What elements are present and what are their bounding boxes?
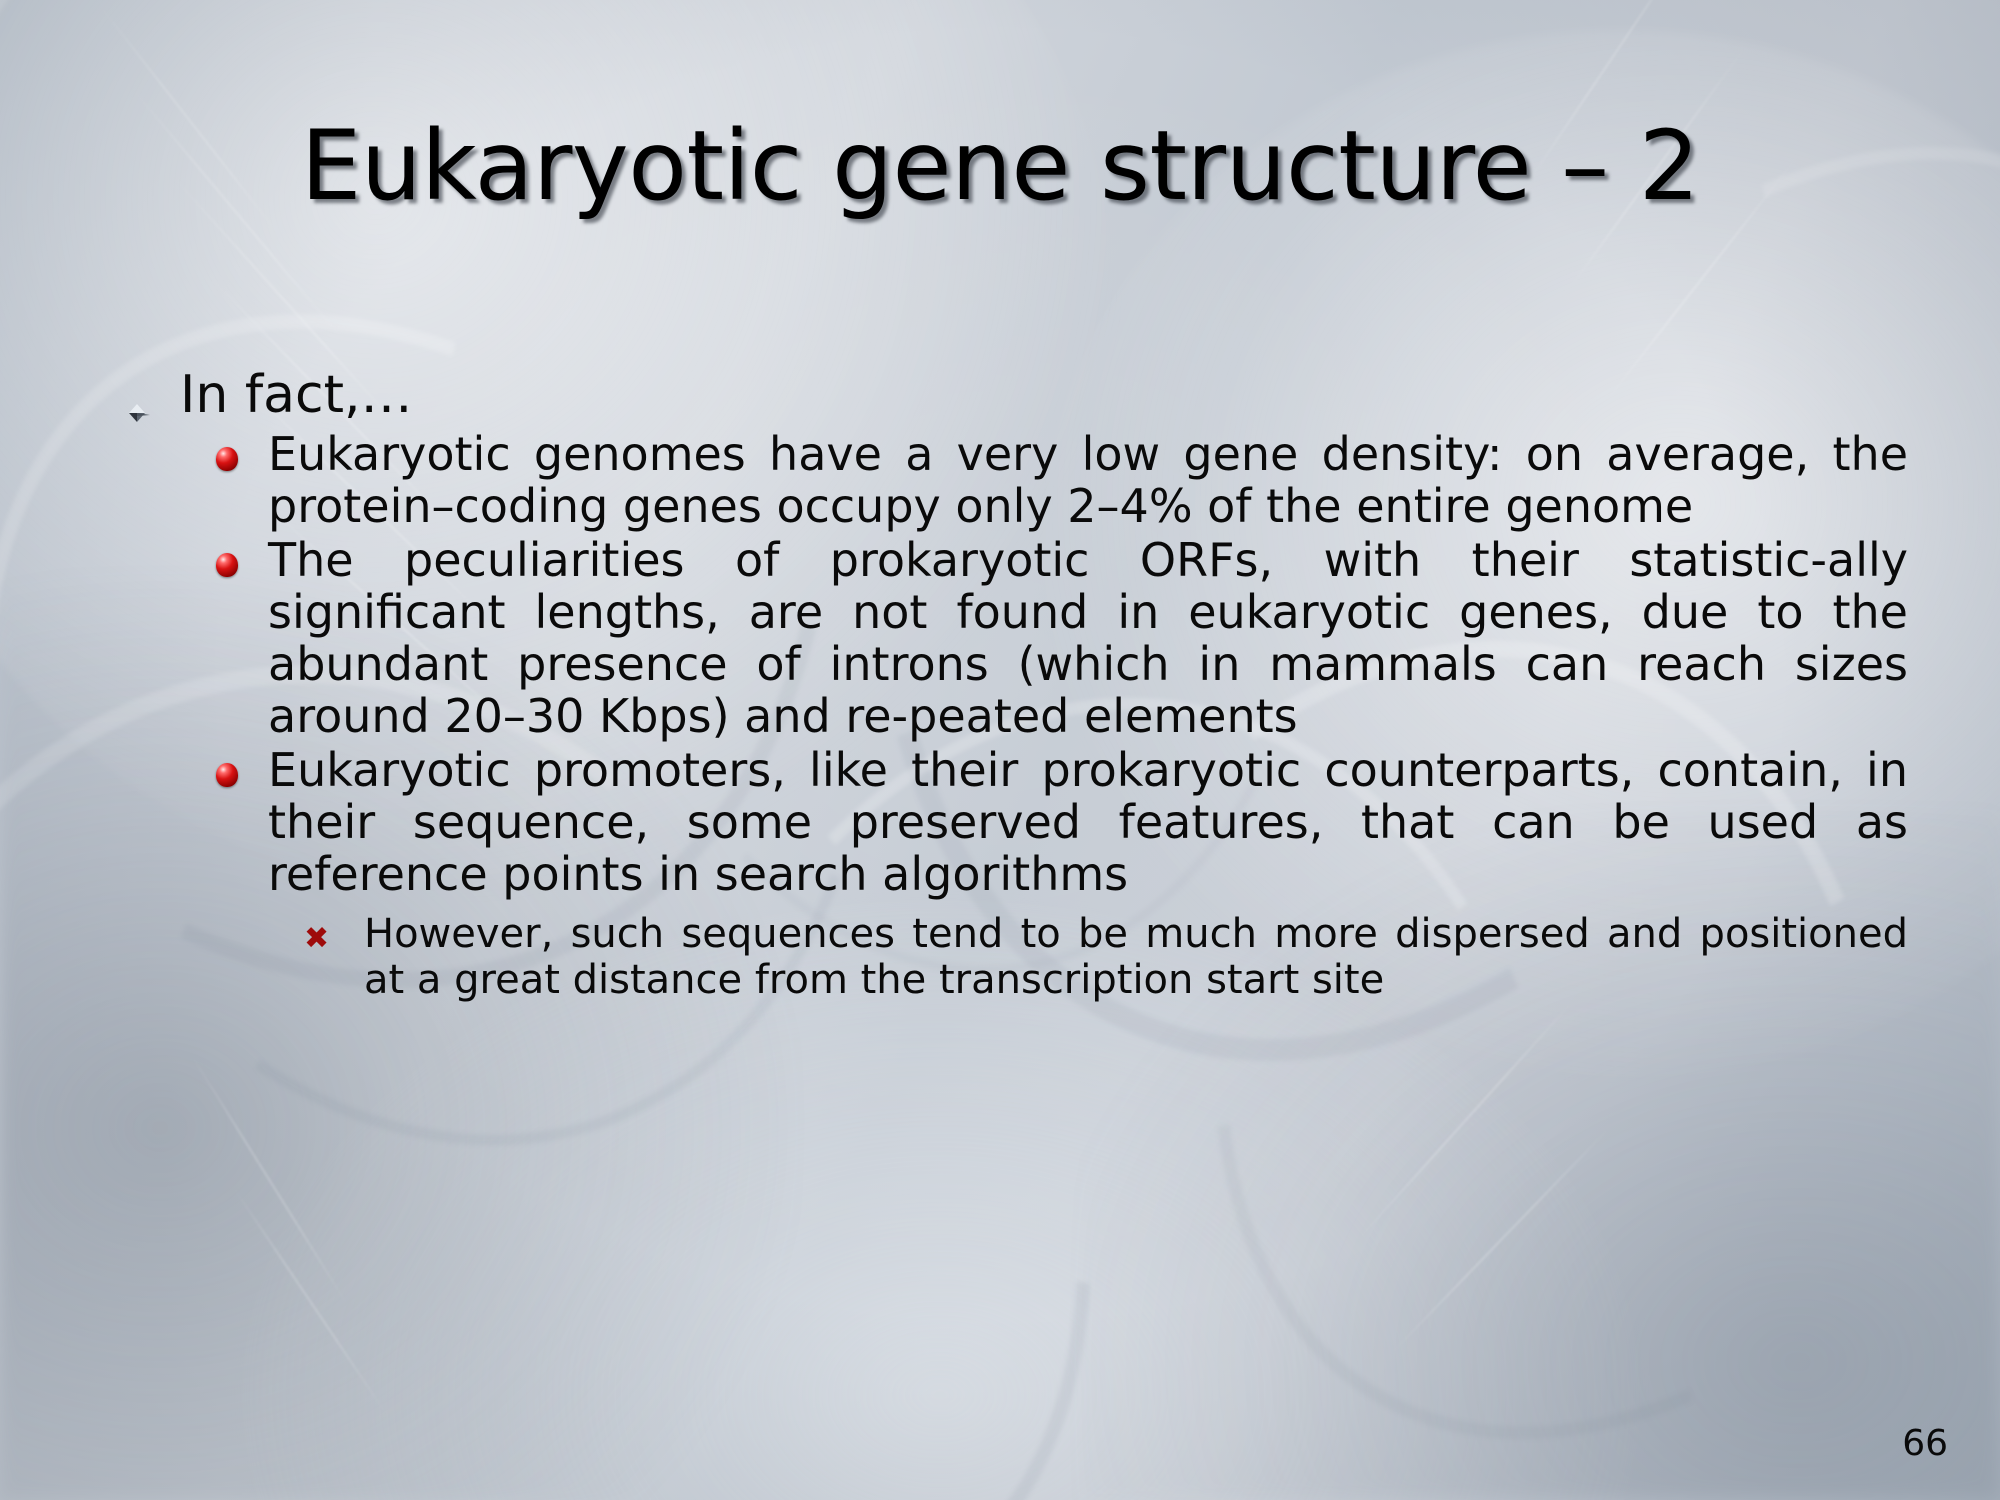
bullet-level2-text: Eukaryotic promoters, like their prokary…: [268, 745, 1908, 901]
slide-content: Eukaryotic gene structure – 2 In fact,…: [0, 0, 2000, 1500]
diamond-arrow-bullet-icon: [124, 384, 150, 410]
red-sphere-bullet-icon: [216, 553, 238, 577]
slide-title: Eukaryotic gene structure – 2: [0, 118, 2000, 214]
red-sphere-bullet-icon: [216, 447, 238, 471]
bullet-level1-text: In fact,…: [180, 365, 413, 425]
bullet-level3-text: However, such sequences tend to be much …: [364, 911, 1908, 1003]
presentation-slide: Eukaryotic gene structure – 2 In fact,…: [0, 0, 2000, 1500]
slide-page-number: 66: [1902, 1423, 1948, 1464]
bullet-level2-item: Eukaryotic genomes have a very low gene …: [108, 429, 1908, 533]
bullet-level2-item: Eukaryotic promoters, like their prokary…: [108, 745, 1908, 901]
red-sphere-bullet-icon: [216, 763, 238, 787]
slide-body: In fact,… Eukaryotic genomes have a very…: [108, 368, 1908, 1004]
bullet-level2-text: The peculiarities of prokaryotic ORFs, w…: [268, 535, 1908, 743]
bullet-level2-item: The peculiarities of prokaryotic ORFs, w…: [108, 535, 1908, 743]
bullet-level2-text: Eukaryotic genomes have a very low gene …: [268, 429, 1908, 533]
bullet-level3-item: ✖ However, such sequences tend to be muc…: [108, 911, 1908, 1004]
red-x-bullet-icon: ✖: [304, 925, 332, 953]
bullet-level1-item: In fact,…: [108, 368, 1908, 423]
